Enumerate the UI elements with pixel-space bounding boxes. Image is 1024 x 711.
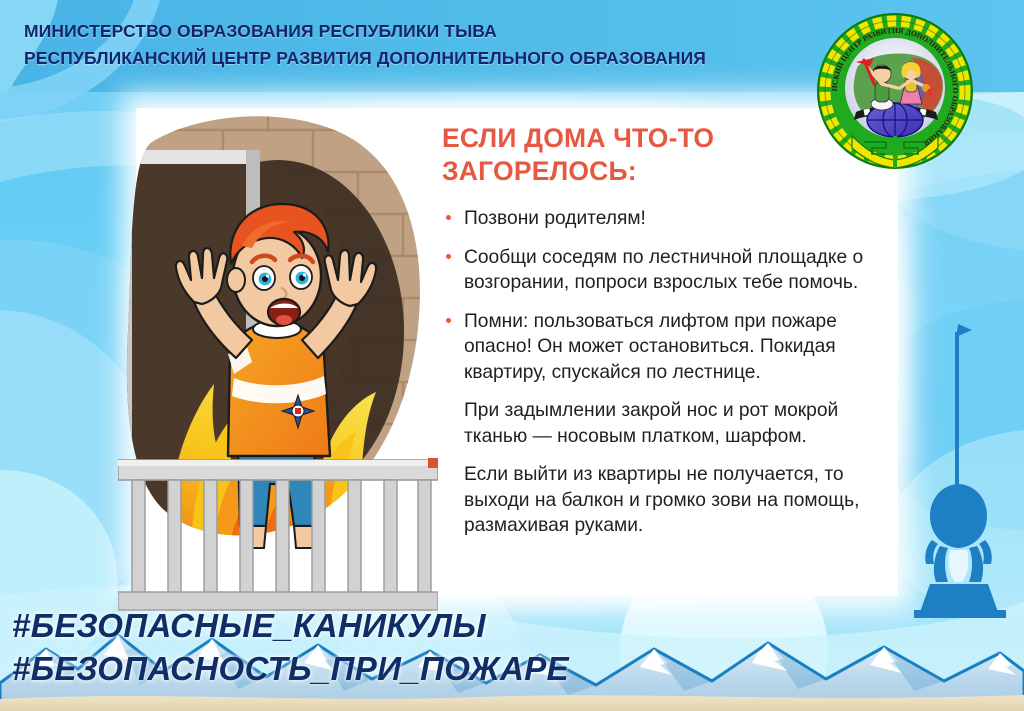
- header-title-block: МИНИСТЕРСТВО ОБРАЗОВАНИЯ РЕСПУБЛИКИ ТЫВА…: [24, 18, 706, 72]
- list-item: Позвони родителям!: [442, 206, 882, 232]
- balcony-railing: [118, 458, 438, 610]
- bullet-dot-icon: [446, 215, 451, 220]
- list-item: Если выйти из квартиры не получается, то…: [442, 462, 882, 539]
- list-item: Сообщи соседям по лестничной площадке о …: [442, 245, 882, 296]
- list-item-text: Если выйти из квартиры не получается, то…: [464, 464, 859, 536]
- poster: МИНИСТЕРСТВО ОБРАЗОВАНИЯ РЕСПУБЛИКИ ТЫВА…: [0, 0, 1024, 711]
- hashtag-2: #БЕЗОПАСНОСТЬ_ПРИ_ПОЖАРЕ: [12, 647, 569, 690]
- list-item-text: При задымлении закрой нос и рот мокрой т…: [464, 400, 838, 447]
- emblem-graphic: РЕСПУБЛИКАНСКИЙ ЦЕНТР РАЗВИТИЯ ДОПОЛНИТЕ…: [812, 8, 978, 174]
- header-line-2: РЕСПУБЛИКАНСКИЙ ЦЕНТР РАЗВИТИЯ ДОПОЛНИТЕ…: [24, 45, 706, 72]
- rcrdo-emblem: РЕСПУБЛИКАНСКИЙ ЦЕНТР РАЗВИТИЯ ДОПОЛНИТЕ…: [812, 8, 978, 174]
- hashtags: #БЕЗОПАСНЫЕ_КАНИКУЛЫ #БЕЗОПАСНОСТЬ_ПРИ_П…: [12, 604, 569, 690]
- hashtag-1: #БЕЗОПАСНЫЕ_КАНИКУЛЫ: [12, 604, 569, 647]
- list-item: При задымлении закрой нос и рот мокрой т…: [442, 398, 882, 449]
- boy-on-balcony-illustration: [118, 96, 438, 616]
- illustration-graphic: [118, 96, 438, 616]
- list-item: Помни: пользоваться лифтом при пожаре оп…: [442, 309, 882, 386]
- safety-tips-list: Позвони родителям! Сообщи соседям по лес…: [442, 206, 882, 539]
- list-item-text: Позвони родителям!: [464, 208, 646, 229]
- bullet-dot-icon: [446, 254, 451, 259]
- card-content: ЕСЛИ ДОМА ЧТО-ТО ЗАГОРЕЛОСЬ: Позвони род…: [442, 122, 882, 552]
- center-of-asia-obelisk: [900, 318, 1020, 618]
- header-line-1: МИНИСТЕРСТВО ОБРАЗОВАНИЯ РЕСПУБЛИКИ ТЫВА: [24, 18, 706, 45]
- bullet-dot-icon: [446, 318, 451, 323]
- monument-graphic: [900, 318, 1020, 618]
- list-item-text: Помни: пользоваться лифтом при пожаре оп…: [464, 311, 837, 383]
- list-item-text: Сообщи соседям по лестничной площадке о …: [464, 247, 863, 294]
